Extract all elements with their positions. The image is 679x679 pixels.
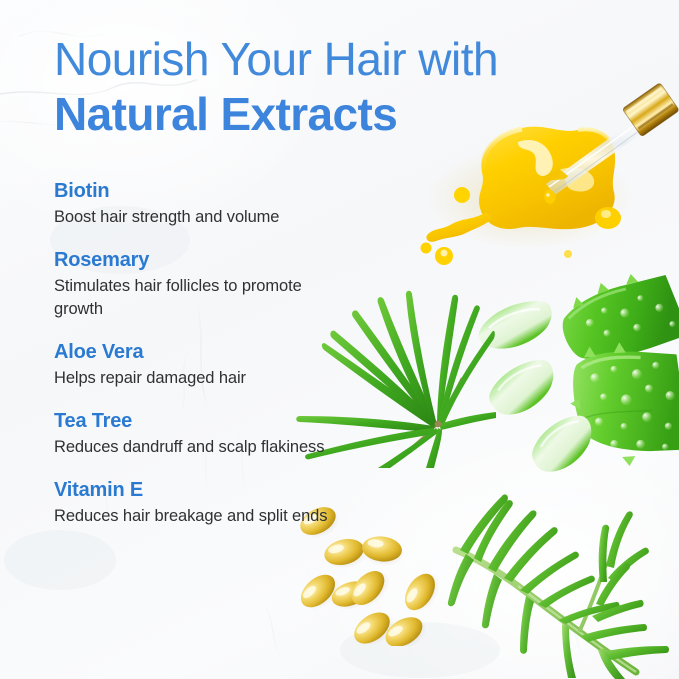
aloe-vera-image	[466, 262, 679, 492]
ingredient-item-tea-tree: Tea Tree Reduces dandruff and scalp flak…	[54, 408, 354, 459]
ingredient-name: Vitamin E	[54, 477, 354, 503]
ingredient-name: Tea Tree	[54, 408, 354, 434]
headline-block: Nourish Your Hair with Natural Extracts	[54, 32, 614, 142]
ingredient-item-biotin: Biotin Boost hair strength and volume	[54, 178, 354, 229]
ingredient-list: Biotin Boost hair strength and volume Ro…	[54, 178, 354, 528]
poster-canvas: Nourish Your Hair with Natural Extracts …	[0, 0, 679, 679]
ingredient-item-rosemary: Rosemary Stimulates hair follicles to pr…	[54, 247, 354, 321]
rosemary-image	[430, 480, 679, 679]
ingredient-description: Helps repair damaged hair	[54, 367, 354, 390]
ingredient-name: Aloe Vera	[54, 339, 354, 365]
ingredient-description: Boost hair strength and volume	[54, 206, 354, 229]
ingredient-name: Biotin	[54, 178, 354, 204]
ingredient-description: Reduces hair breakage and split ends	[54, 505, 354, 528]
ingredient-description: Reduces dandruff and scalp flakiness	[54, 436, 354, 459]
headline-line-2: Natural Extracts	[54, 86, 614, 142]
headline-line-1: Nourish Your Hair with	[54, 32, 614, 86]
ingredient-description: Stimulates hair follicles to promote gro…	[54, 275, 354, 321]
ingredient-name: Rosemary	[54, 247, 354, 273]
ingredient-item-aloe-vera: Aloe Vera Helps repair damaged hair	[54, 339, 354, 390]
ingredient-item-vitamin-e: Vitamin E Reduces hair breakage and spli…	[54, 477, 354, 528]
